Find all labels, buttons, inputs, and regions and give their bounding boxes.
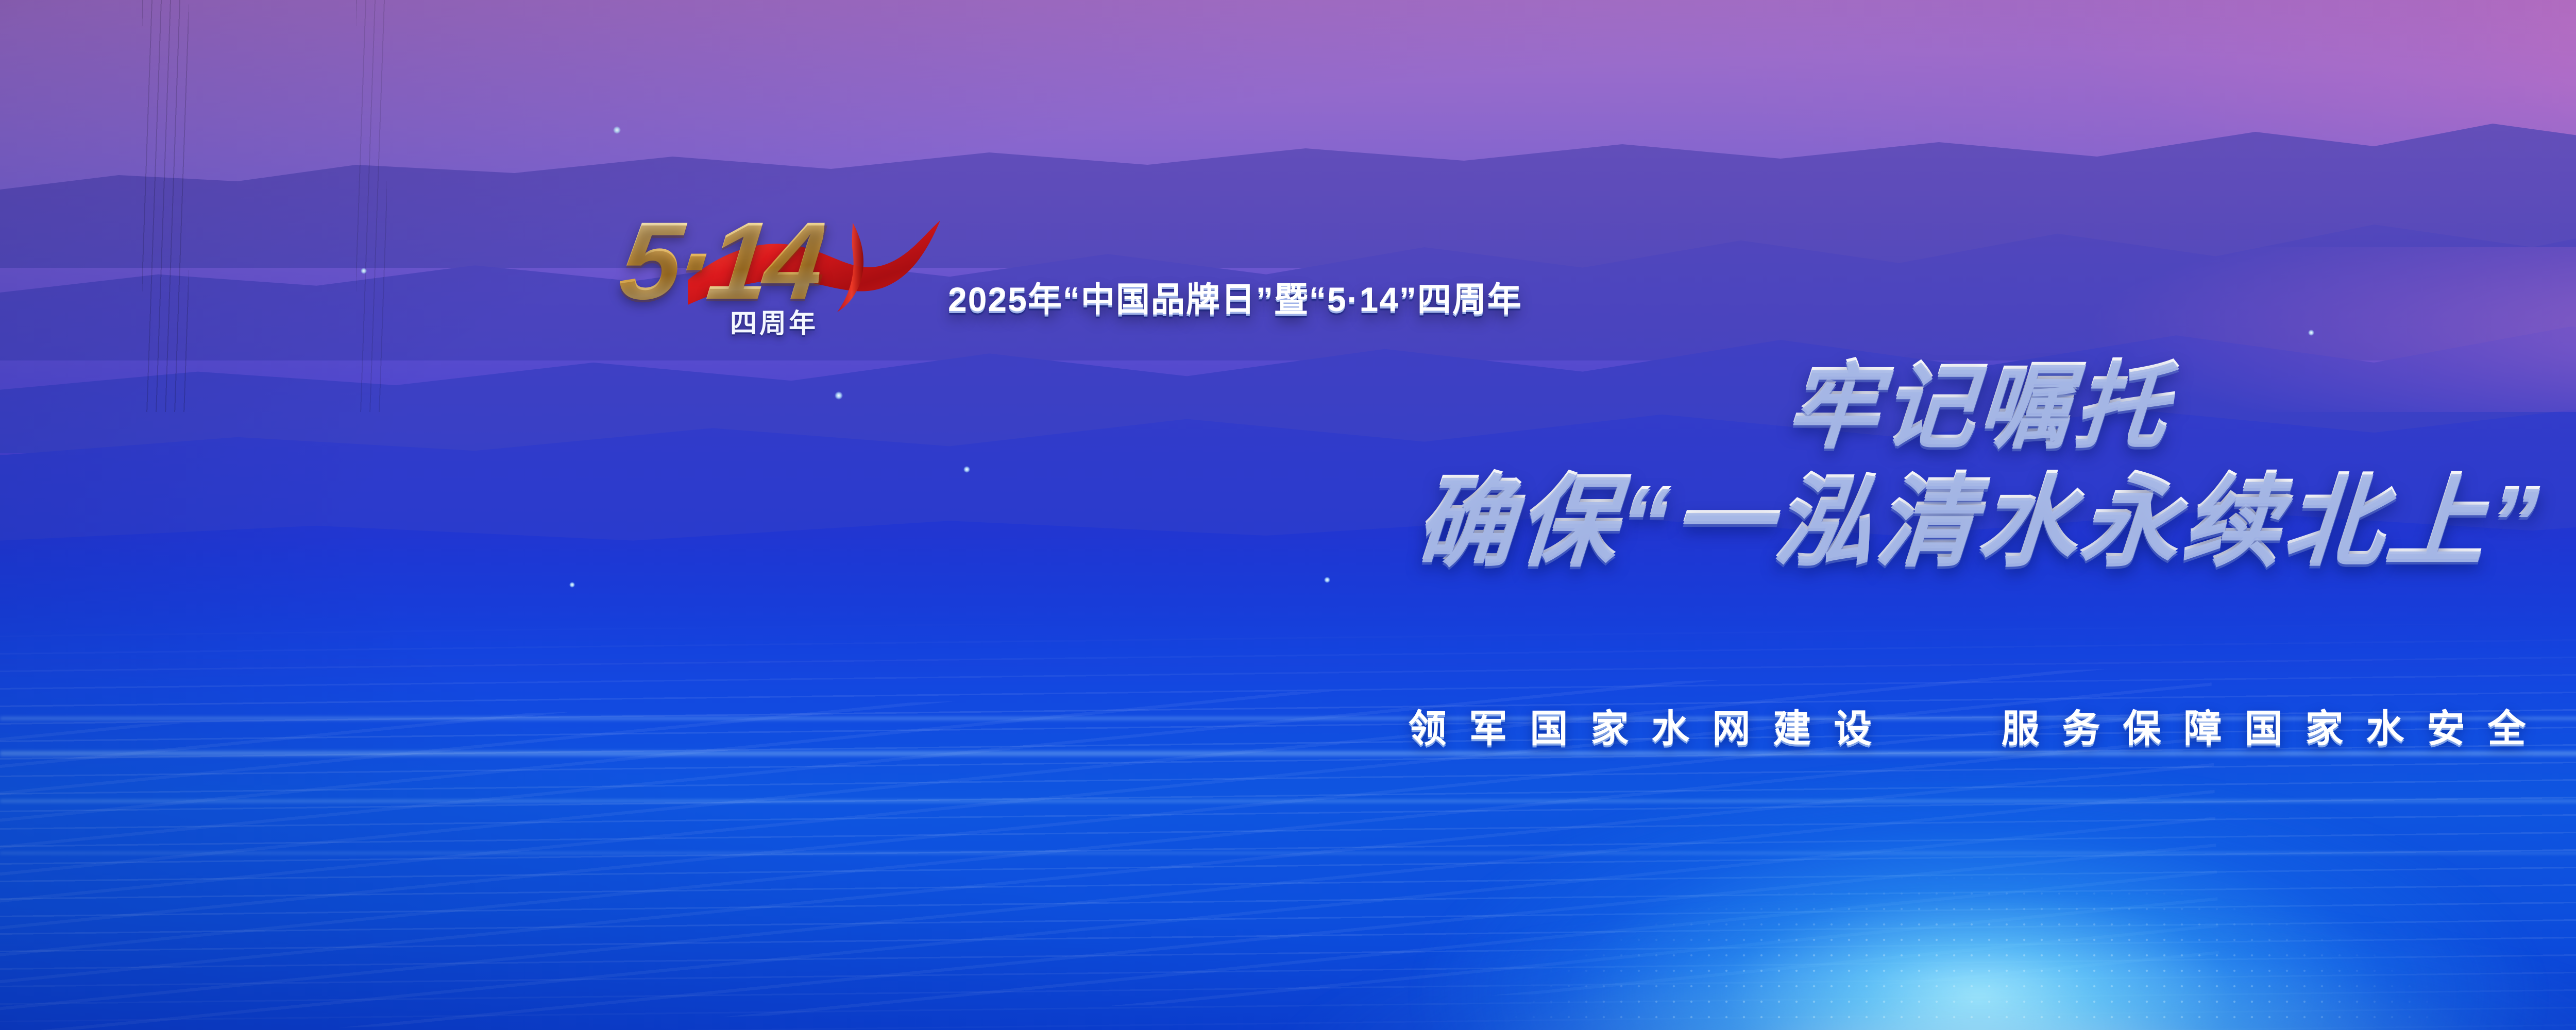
overhead-truss-lines-left-2 <box>356 0 387 412</box>
subtitle-part-1: 领军国家水网建设 <box>1408 707 1894 750</box>
anniversary-badge: 5·14 四周年 <box>621 206 951 335</box>
subtitle-part-2: 服务保障国家水安全 <box>2002 707 2549 750</box>
overhead-truss-lines-left <box>142 0 189 412</box>
badge-anniversary: 四周年 <box>730 302 818 340</box>
ridge-haze-glow <box>2058 247 2576 412</box>
center-glow-arc <box>1069 793 2576 1030</box>
light-band-4 <box>0 851 2576 855</box>
sparkle <box>2308 330 2314 336</box>
banner-stage: 5·14 四周年 2025年“中国品牌日”暨“5·14”四周年 中国南水北调 C… <box>0 0 2576 1030</box>
badge-caption: 2025年“中国品牌日”暨“5·14”四周年 <box>948 272 1522 321</box>
sparkle <box>613 126 621 134</box>
sparkle <box>1324 577 1330 583</box>
badge-number: 5·14 <box>615 206 827 316</box>
sparkle <box>835 391 843 400</box>
sparkle <box>569 582 575 588</box>
sparkle <box>963 466 970 473</box>
subtitle: 领军国家水网建设 服务保障国家水安全 <box>0 698 2576 753</box>
light-band-3 <box>0 799 2576 803</box>
sparkle <box>361 268 367 274</box>
